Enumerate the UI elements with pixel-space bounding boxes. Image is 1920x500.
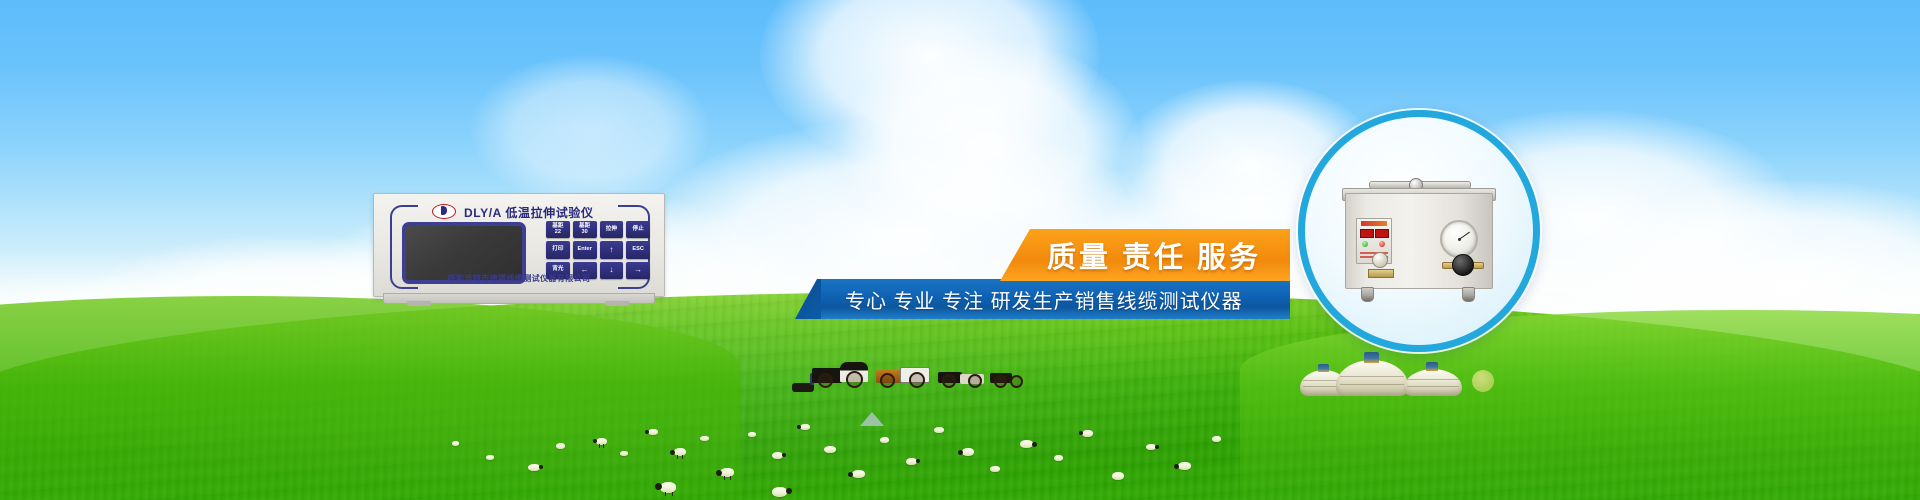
key-up-arrow-icon[interactable]: ↑ xyxy=(600,241,624,258)
machine-indicator-lamp-red xyxy=(1379,241,1385,247)
delta-oval-logo-icon xyxy=(432,204,456,219)
instrument-foot xyxy=(407,301,431,306)
circular-product-photo[interactable] xyxy=(1298,110,1540,352)
machine-small-dial xyxy=(1372,252,1388,268)
key-base-22[interactable]: 基距22 xyxy=(546,221,570,238)
tagline-banner-secondary[interactable]: 专心 专业 专注 研发生产销售线缆测试仪器 xyxy=(795,279,1290,319)
steam-test-machine xyxy=(1345,183,1491,293)
tagline-primary-text: 质量 责任 服务 xyxy=(1000,229,1290,281)
machine-caster xyxy=(1462,287,1475,302)
key-base-30[interactable]: 基距30 xyxy=(573,221,597,238)
instrument-foot xyxy=(605,301,629,306)
instrument-keypad[interactable]: 基距22 基距30 拉伸 停止 打印 Enter ↑ ESC 背光 ← ↓ → xyxy=(546,221,650,279)
tagline-secondary-text: 专心 专业 专注 研发生产销售线缆测试仪器 xyxy=(795,279,1290,319)
key-enter[interactable]: Enter xyxy=(573,241,597,258)
machine-caster xyxy=(1361,287,1374,302)
key-print[interactable]: 打印 xyxy=(546,241,570,258)
machine-readout xyxy=(1360,229,1374,238)
instrument-company-name: 呼和浩特市德塔线缆测试仪器有限公司 xyxy=(374,273,664,284)
pressure-gauge-icon xyxy=(1440,220,1478,258)
tagline-banner-primary[interactable]: 质量 责任 服务 xyxy=(1000,229,1290,281)
machine-brand-strip xyxy=(1361,221,1387,226)
key-stretch[interactable]: 拉伸 xyxy=(600,221,624,238)
machine-chassis xyxy=(1345,193,1493,289)
machine-indicator-lamp-green xyxy=(1362,241,1368,247)
hero-banner: 专心 专业 专注 研发生产销售线缆测试仪器 质量 责任 服务 xyxy=(0,0,1920,500)
machine-valve-knob xyxy=(1452,254,1474,276)
instrument-model-title: DLY/A 低温拉伸试验仪 xyxy=(464,204,594,221)
gauge-hub xyxy=(1458,238,1461,241)
key-stop[interactable]: 停止 xyxy=(626,221,650,238)
machine-readout xyxy=(1375,229,1389,238)
tagline-group: 专心 专业 专注 研发生产销售线缆测试仪器 质量 责任 服务 xyxy=(0,0,1920,500)
key-esc[interactable]: ESC xyxy=(626,241,650,258)
dly-a-test-instrument[interactable]: DLY/A 低温拉伸试验仪 基距22 基距30 拉伸 停止 打印 Enter ↑… xyxy=(373,193,663,303)
instrument-case: DLY/A 低温拉伸试验仪 基距22 基距30 拉伸 停止 打印 Enter ↑… xyxy=(373,193,665,297)
machine-nameplate xyxy=(1368,269,1394,278)
